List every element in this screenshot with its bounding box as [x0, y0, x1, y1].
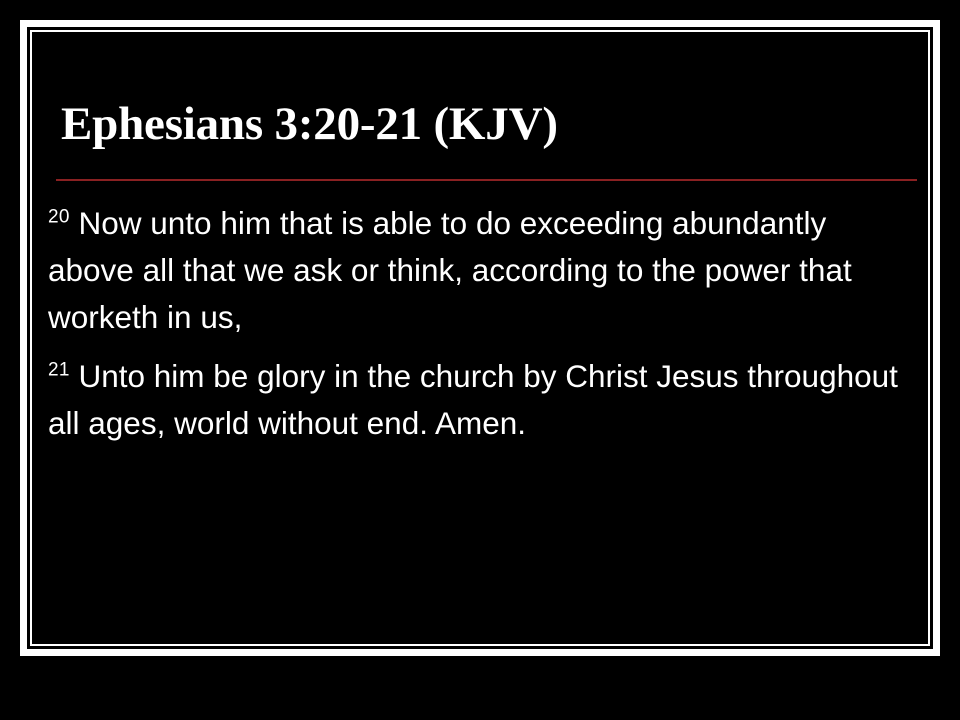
verse-paragraph: 21 Unto him be glory in the church by Ch…	[48, 353, 910, 447]
verse-text: Now unto him that is able to do exceedin…	[48, 205, 852, 335]
verse-number: 21	[48, 360, 70, 381]
verse-number: 20	[48, 207, 70, 228]
presentation-slide: Ephesians 3:20-21 (KJV) 20 Now unto him …	[0, 0, 960, 720]
scripture-body: 20 Now unto him that is able to do excee…	[48, 200, 910, 447]
verse-paragraph: 20 Now unto him that is able to do excee…	[48, 200, 910, 341]
verse-text: Unto him be glory in the church by Chris…	[48, 358, 898, 441]
slide-title: Ephesians 3:20-21 (KJV)	[61, 96, 901, 152]
title-divider-rule	[56, 179, 917, 181]
